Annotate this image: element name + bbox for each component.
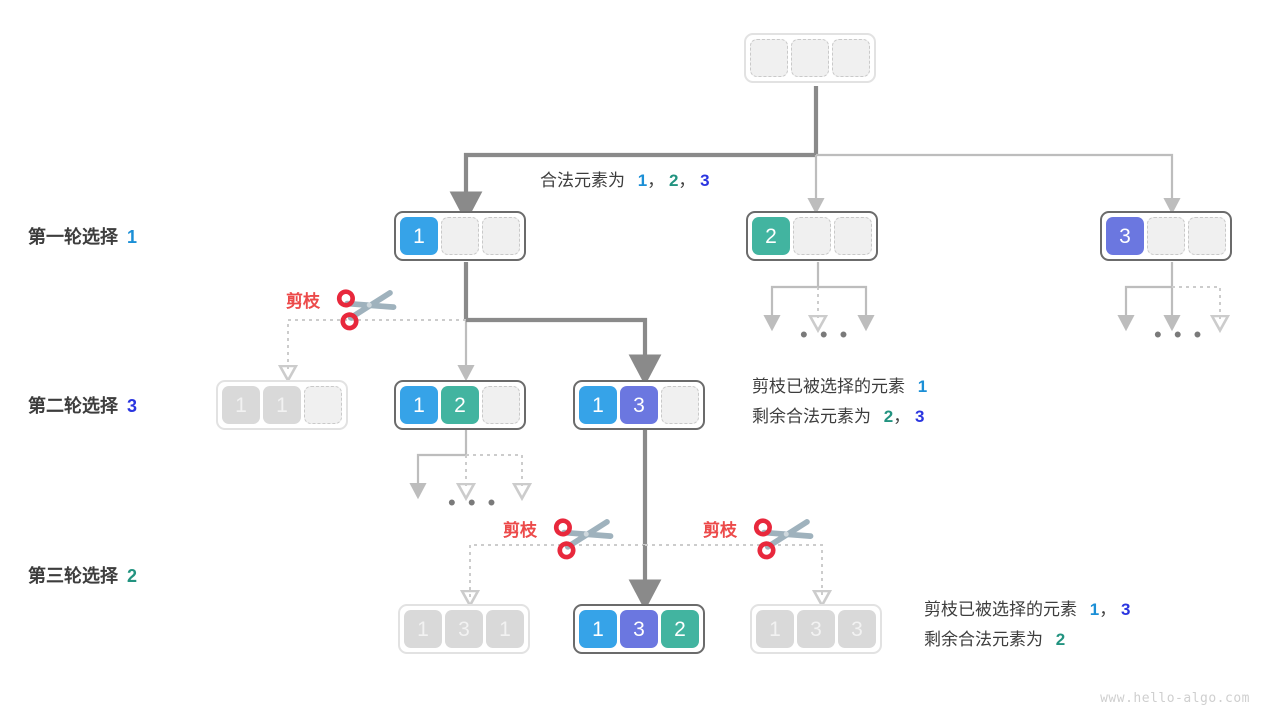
node-r3-c2[interactable]: 1 3 2 xyxy=(573,604,705,654)
cell: 1 xyxy=(756,610,794,648)
cell xyxy=(791,39,829,77)
round3-note: 剪枝已被选择的元素 1， 3 剩余合法元素为 2 xyxy=(924,595,1130,655)
round2-note-line1-text: 剪枝已被选择的元素 xyxy=(752,377,905,396)
cell xyxy=(1147,217,1185,255)
round3-note-line2-value-1: 2 xyxy=(1056,630,1065,649)
cell: 3 xyxy=(445,610,483,648)
legal-elements-text: 合法元素为 xyxy=(540,171,625,190)
cell: 1 xyxy=(486,610,524,648)
round3-note-line2-text: 剩余合法元素为 xyxy=(924,630,1043,649)
cell: 1 xyxy=(404,610,442,648)
prune-label-1: 剪枝 xyxy=(286,287,320,312)
cell xyxy=(1188,217,1226,255)
round2-note-line2-text: 剩余合法元素为 xyxy=(752,407,871,426)
round-label-2-value: 3 xyxy=(127,396,137,416)
round3-note-line1-value-2: 3 xyxy=(1121,600,1130,619)
round2-note-line1-value-1: 1 xyxy=(918,377,927,396)
node-r3-c1-pruned[interactable]: 1 3 1 xyxy=(398,604,530,654)
round-label-3-text: 第三轮选择 xyxy=(28,566,118,586)
cell: 2 xyxy=(441,386,479,424)
round2-note: 剪枝已被选择的元素 1 剩余合法元素为 2， 3 xyxy=(752,372,927,432)
cell xyxy=(441,217,479,255)
legal-elements-value-3: 3 xyxy=(700,171,709,190)
round-label-2-text: 第二轮选择 xyxy=(28,396,118,416)
prune-label-2: 剪枝 xyxy=(503,516,537,541)
prune-label-3: 剪枝 xyxy=(703,516,737,541)
separator: ， xyxy=(893,407,910,426)
node-r2-c3[interactable]: 1 3 xyxy=(573,380,705,430)
node-r1-c2[interactable]: 2 xyxy=(746,211,878,261)
cell xyxy=(832,39,870,77)
cell: 1 xyxy=(222,386,260,424)
node-r2-c2[interactable]: 1 2 xyxy=(394,380,526,430)
round2-note-line2-value-1: 2 xyxy=(884,407,893,426)
cell xyxy=(304,386,342,424)
round-label-3: 第三轮选择2 xyxy=(28,562,137,588)
cell xyxy=(482,217,520,255)
round-label-1: 第一轮选择1 xyxy=(28,223,137,249)
round2-note-line2: 剩余合法元素为 2， 3 xyxy=(752,402,927,432)
cell xyxy=(661,386,699,424)
cell: 1 xyxy=(263,386,301,424)
separator: ， xyxy=(678,171,695,190)
round-label-1-value: 1 xyxy=(127,227,137,247)
round-label-2: 第二轮选择3 xyxy=(28,392,137,418)
cell: 1 xyxy=(579,386,617,424)
round3-note-line1-text: 剪枝已被选择的元素 xyxy=(924,600,1077,619)
cell: 1 xyxy=(400,386,438,424)
backtracking-tree-diagram: 第一轮选择1 第二轮选择3 第三轮选择2 1 2 3 1 1 1 2 1 xyxy=(0,0,1280,720)
round-label-3-value: 2 xyxy=(127,566,137,586)
cell: 3 xyxy=(1106,217,1144,255)
round3-note-line2: 剩余合法元素为 2 xyxy=(924,625,1130,655)
node-r1-c3[interactable]: 3 xyxy=(1100,211,1232,261)
node-root[interactable] xyxy=(744,33,876,83)
cell: 3 xyxy=(797,610,835,648)
round3-note-line1-value-1: 1 xyxy=(1090,600,1099,619)
cell: 1 xyxy=(579,610,617,648)
cell xyxy=(793,217,831,255)
cell: 3 xyxy=(620,610,658,648)
ellipsis-3: • • • xyxy=(448,490,498,516)
cell: 2 xyxy=(661,610,699,648)
cell: 3 xyxy=(620,386,658,424)
ellipsis-1: • • • xyxy=(800,322,850,348)
node-r3-c3-pruned[interactable]: 1 3 3 xyxy=(750,604,882,654)
round-label-1-text: 第一轮选择 xyxy=(28,227,118,247)
cell: 3 xyxy=(838,610,876,648)
legal-elements-value-1: 1 xyxy=(638,171,647,190)
cell: 2 xyxy=(752,217,790,255)
watermark: www.hello-algo.com xyxy=(1100,691,1250,706)
legal-elements-note: 合法元素为 1， 2， 3 xyxy=(540,166,710,196)
cell xyxy=(750,39,788,77)
round2-note-line1: 剪枝已被选择的元素 1 xyxy=(752,372,927,402)
round3-note-line1: 剪枝已被选择的元素 1， 3 xyxy=(924,595,1130,625)
round2-note-line2-value-2: 3 xyxy=(915,407,924,426)
node-r2-c1-pruned[interactable]: 1 1 xyxy=(216,380,348,430)
cell: 1 xyxy=(400,217,438,255)
node-r1-c1[interactable]: 1 xyxy=(394,211,526,261)
legal-elements-value-2: 2 xyxy=(669,171,678,190)
separator: ， xyxy=(1099,600,1116,619)
cell xyxy=(834,217,872,255)
ellipsis-2: • • • xyxy=(1154,322,1204,348)
separator: ， xyxy=(647,171,664,190)
cell xyxy=(482,386,520,424)
